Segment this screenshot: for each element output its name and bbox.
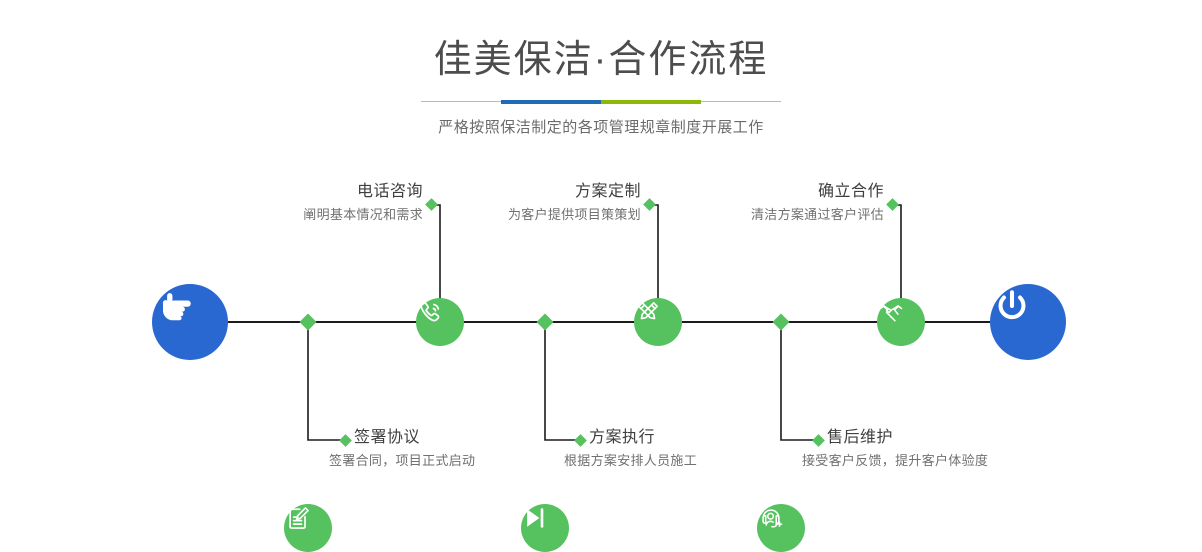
label-title: 方案执行 bbox=[589, 428, 697, 448]
label-diamond-after-sales bbox=[812, 434, 825, 447]
label-title: 电话咨询 bbox=[180, 182, 423, 202]
label-after-sales-maintenance: 售后维护 接受客户反馈，提升客户体验度 bbox=[827, 428, 988, 471]
end-endpoint-node[interactable] bbox=[990, 284, 1066, 360]
step-icon-sign-agreement[interactable] bbox=[284, 504, 332, 552]
connector-after-sales-maintenance bbox=[781, 322, 818, 440]
label-diamond-sign-agreement bbox=[339, 434, 352, 447]
page-header: 佳美保洁·合作流程 严格按照保洁制定的各项管理规章制度开展工作 bbox=[0, 0, 1202, 137]
label-desc: 清洁方案通过客户评估 bbox=[640, 205, 884, 225]
label-title: 签署协议 bbox=[354, 428, 475, 448]
label-plan-execution: 方案执行 根据方案安排人员施工 bbox=[589, 428, 697, 471]
label-title: 方案定制 bbox=[400, 182, 641, 202]
page-subtitle: 严格按照保洁制定的各项管理规章制度开展工作 bbox=[0, 104, 1202, 137]
axis-diamond-plan-execution bbox=[537, 314, 554, 331]
label-sign-agreement: 签署协议 签署合同，项目正式启动 bbox=[354, 428, 475, 471]
label-phone-consultation: 电话咨询 阐明基本情况和需求 bbox=[180, 182, 423, 225]
step-icon-establish-cooperation[interactable] bbox=[877, 298, 925, 346]
label-diamond-establish-cooperation bbox=[886, 198, 899, 211]
step-icon-plan-execution[interactable] bbox=[521, 504, 569, 552]
connector-plan-execution bbox=[545, 322, 580, 440]
axis-diamond-after-sales bbox=[773, 314, 790, 331]
label-plan-customization: 方案定制 为客户提供项目策策划 bbox=[400, 182, 641, 225]
title-divider bbox=[421, 100, 781, 104]
label-title: 确立合作 bbox=[640, 182, 884, 202]
label-desc: 签署合同，项目正式启动 bbox=[329, 451, 475, 471]
label-diamond-plan-execution bbox=[574, 434, 587, 447]
label-title: 售后维护 bbox=[827, 428, 988, 448]
step-icon-after-sales-maintenance[interactable] bbox=[757, 504, 805, 552]
process-flow-timeline: 电话咨询 阐明基本情况和需求 方案定制 为客户提供项目策策划 确立合作 清洁方案… bbox=[0, 150, 1202, 502]
page-title: 佳美保洁·合作流程 bbox=[0, 0, 1202, 84]
step-icon-phone-consultation[interactable] bbox=[416, 298, 464, 346]
label-desc: 为客户提供项目策策划 bbox=[400, 205, 641, 225]
divider-segment-green bbox=[601, 100, 701, 104]
label-establish-cooperation: 确立合作 清洁方案通过客户评估 bbox=[640, 182, 884, 225]
axis-diamond-sign-agreement bbox=[300, 314, 317, 331]
step-icon-plan-customization[interactable] bbox=[634, 298, 682, 346]
start-endpoint-node[interactable] bbox=[152, 284, 228, 360]
label-desc: 根据方案安排人员施工 bbox=[564, 451, 697, 471]
divider-segment-blue bbox=[501, 100, 601, 104]
label-desc: 阐明基本情况和需求 bbox=[180, 205, 423, 225]
connector-sign-agreement bbox=[308, 322, 345, 440]
label-desc: 接受客户反馈，提升客户体验度 bbox=[802, 451, 988, 471]
